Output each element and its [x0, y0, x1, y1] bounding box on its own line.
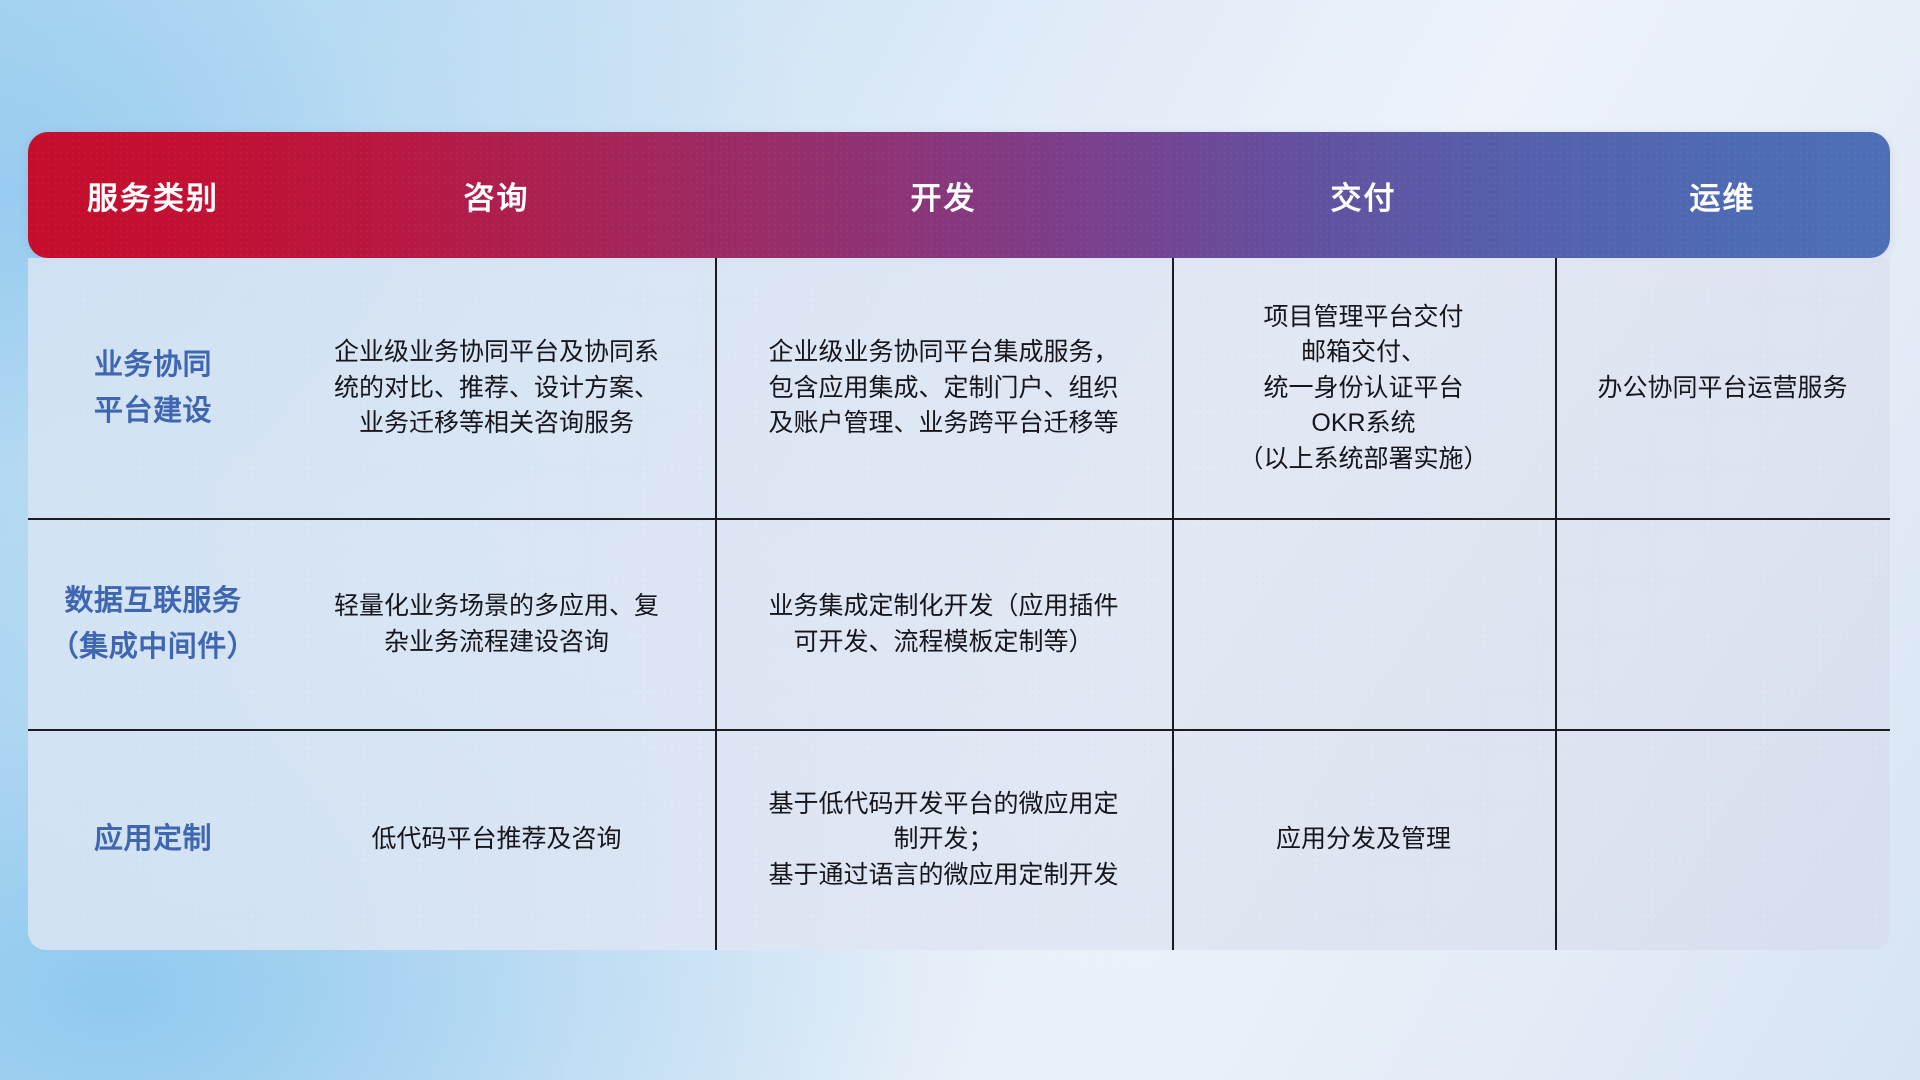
- cell-app-customization-dev: 基于低代码开发平台的微应用定 制开发； 基于通过语言的微应用定制开发: [715, 787, 1172, 894]
- cell-data-integration-dev: 业务集成定制化开发（应用插件 可开发、流程模板定制等）: [715, 589, 1172, 660]
- column-header-deliver: 交付: [1172, 173, 1555, 218]
- table-row: 应用定制 低代码平台推荐及咨询 基于低代码开发平台的微应用定 制开发； 基于通过…: [28, 730, 1890, 950]
- table-body: 业务协同 平台建设 企业级业务协同平台及协同系 统的对比、推荐、设计方案、 业务…: [28, 258, 1890, 950]
- cell-business-collab-dev: 企业级业务协同平台集成服务， 包含应用集成、定制门户、组织 及账户管理、业务跨平…: [715, 335, 1172, 442]
- cell-app-customization-consult: 低代码平台推荐及咨询: [278, 822, 715, 858]
- cell-business-collab-consult: 企业级业务协同平台及协同系 统的对比、推荐、设计方案、 业务迁移等相关咨询服务: [278, 335, 715, 442]
- cell-data-integration-consult: 轻量化业务场景的多应用、复 杂业务流程建设咨询: [278, 589, 715, 660]
- slide-root: 服务类别 咨询 开发 交付 运维 业务协同 平台建设 企业级业务协同平台及协同系…: [0, 0, 1920, 1080]
- column-header-ops: 运维: [1555, 173, 1890, 218]
- table-row: 数据互联服务 （集成中间件） 轻量化业务场景的多应用、复 杂业务流程建设咨询 业…: [28, 519, 1890, 730]
- table-row: 业务协同 平台建设 企业级业务协同平台及协同系 统的对比、推荐、设计方案、 业务…: [28, 258, 1890, 519]
- row-label-app-customization: 应用定制: [28, 817, 278, 863]
- column-header-dev: 开发: [715, 173, 1172, 218]
- column-header-consult: 咨询: [278, 173, 715, 218]
- column-header-category: 服务类别: [28, 173, 278, 218]
- row-divider-2: [28, 729, 1890, 731]
- column-divider-consult-dev: [715, 258, 717, 950]
- table-header-row: 服务类别 咨询 开发 交付 运维: [28, 132, 1890, 258]
- service-matrix-table: 服务类别 咨询 开发 交付 运维 业务协同 平台建设 企业级业务协同平台及协同系…: [28, 132, 1890, 950]
- cell-app-customization-deliver: 应用分发及管理: [1172, 822, 1555, 858]
- row-divider-1: [28, 518, 1890, 520]
- cell-business-collab-deliver: 项目管理平台交付 邮箱交付、 统一身份认证平台 OKR系统 （以上系统部署实施）: [1172, 300, 1555, 478]
- column-divider-deliver-ops: [1555, 258, 1557, 950]
- row-label-data-integration: 数据互联服务 （集成中间件）: [28, 579, 278, 671]
- row-label-business-collab: 业务协同 平台建设: [28, 343, 278, 435]
- column-divider-dev-deliver: [1172, 258, 1174, 950]
- cell-business-collab-ops: 办公协同平台运营服务: [1555, 371, 1890, 407]
